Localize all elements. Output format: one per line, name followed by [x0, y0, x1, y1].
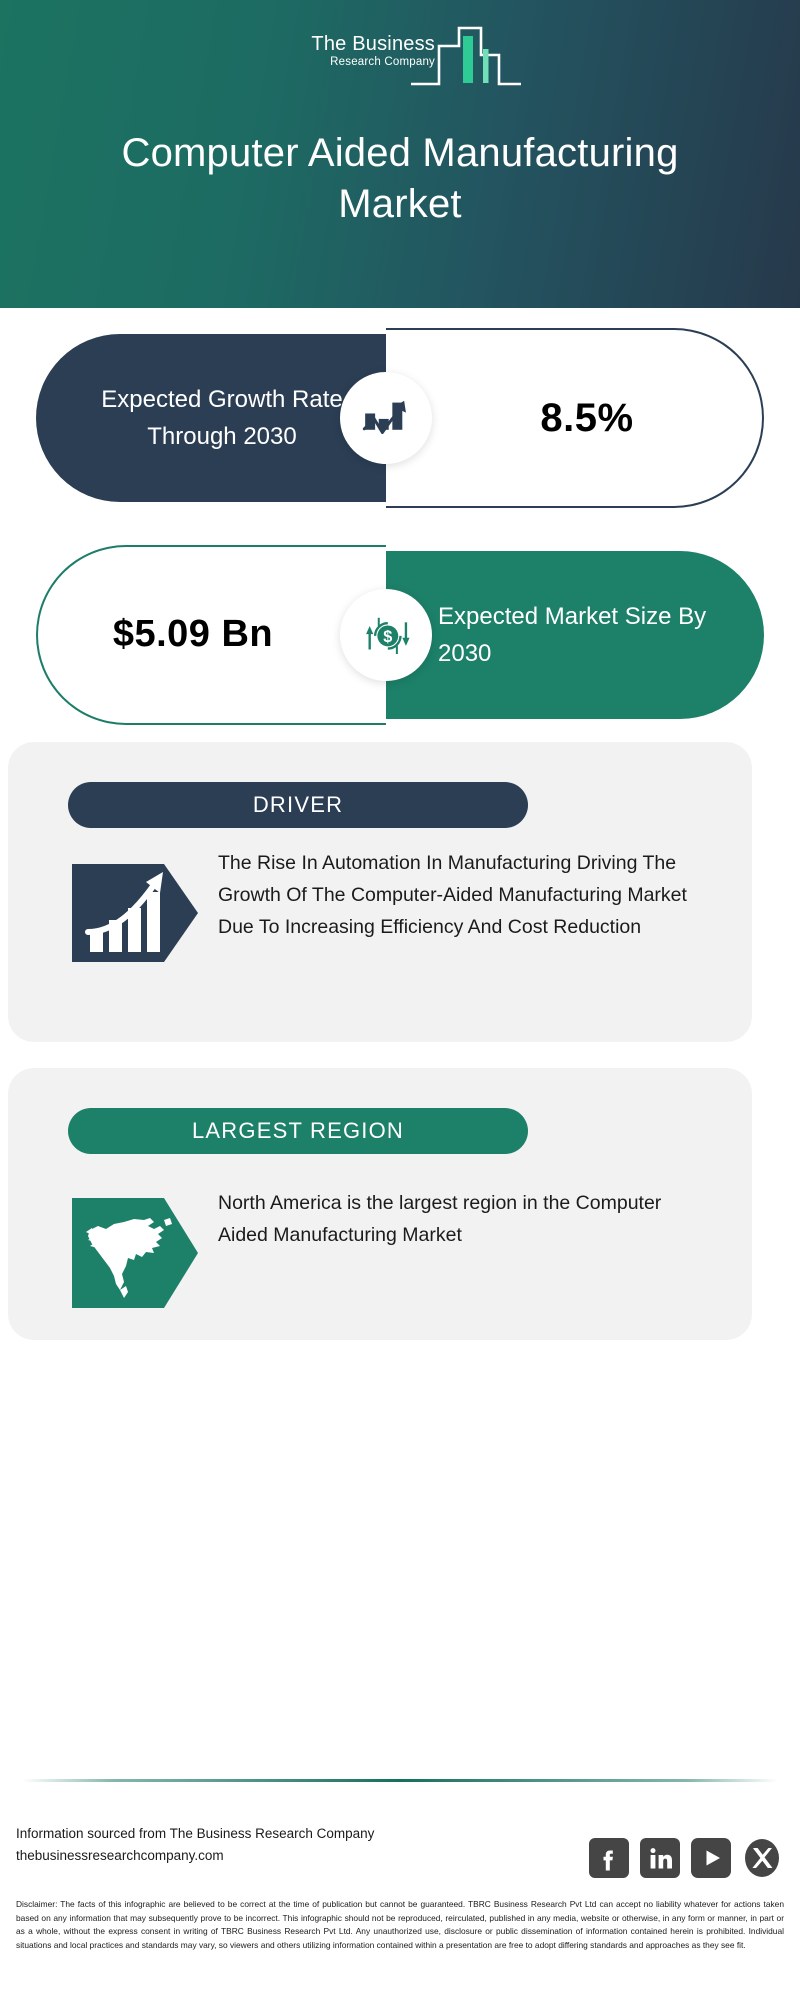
insight-pill-driver-label: DRIVER — [253, 792, 343, 818]
stat-card-growth-rate: Expected Growth Rate Through 2030 8.5% — [36, 328, 764, 508]
insight-pill-largest-region: LARGEST REGION — [68, 1108, 528, 1154]
insight-text-largest-region: North America is the largest region in t… — [218, 1186, 688, 1252]
page-title: Computer Aided Manufacturing Market — [60, 128, 740, 230]
insight-text-driver: The Rise In Automation In Manufacturing … — [218, 846, 688, 944]
bar-chart-logo-icon — [403, 22, 523, 90]
linkedin-icon[interactable] — [640, 1838, 680, 1878]
stat-card-growth-rate-label: Expected Growth Rate Through 2030 — [36, 381, 386, 455]
north-america-map-pentagon-icon — [68, 1186, 202, 1320]
x-twitter-icon[interactable] — [742, 1838, 782, 1878]
stat-card-market-size-value: $5.09 Bn — [113, 610, 311, 659]
footer-source: Information sourced from The Business Re… — [16, 1823, 374, 1867]
insight-panel-largest-region: LARGEST REGION North America is the larg… — [8, 1068, 752, 1340]
insight-body-driver: The Rise In Automation In Manufacturing … — [68, 846, 688, 980]
infographic-page: The Business Research Company Computer A… — [0, 0, 800, 2000]
svg-text:$: $ — [383, 628, 392, 646]
stat-card-market-size-label: Expected Market Size By 2030 — [386, 598, 764, 672]
stat-card-market-size: $5.09 Bn Expected Market Size By 2030 $ — [36, 545, 764, 725]
dollar-circular-arrows-icon: $ — [340, 589, 432, 681]
growth-arrow-pentagon-icon — [68, 846, 202, 980]
stat-card-growth-rate-value: 8.5% — [514, 396, 633, 441]
header-banner: The Business Research Company Computer A… — [0, 0, 800, 308]
facebook-icon[interactable] — [589, 1838, 629, 1878]
stat-card-market-size-label-panel: Expected Market Size By 2030 — [386, 551, 764, 719]
insight-pill-largest-region-label: LARGEST REGION — [192, 1118, 404, 1144]
insight-body-largest-region: North America is the largest region in t… — [68, 1186, 688, 1320]
footer-source-line-2[interactable]: thebusinessresearchcompany.com — [16, 1845, 374, 1867]
youtube-icon[interactable] — [691, 1838, 731, 1878]
stat-card-growth-rate-value-panel: 8.5% — [386, 328, 764, 508]
disclaimer-text: Disclaimer: The facts of this infographi… — [16, 1898, 784, 1952]
insight-panel-driver: DRIVER The Rise In Automation In Manufac… — [8, 742, 752, 1042]
insight-pill-driver: DRIVER — [68, 782, 528, 828]
stat-card-market-size-value-panel: $5.09 Bn — [36, 545, 386, 725]
company-logo: The Business Research Company — [0, 22, 800, 94]
stat-card-growth-rate-label-panel: Expected Growth Rate Through 2030 — [36, 334, 386, 502]
social-links — [589, 1838, 782, 1878]
footer-source-line-1: Information sourced from The Business Re… — [16, 1823, 374, 1845]
growth-bar-chart-arrow-icon — [340, 372, 432, 464]
footer-divider — [22, 1779, 778, 1782]
